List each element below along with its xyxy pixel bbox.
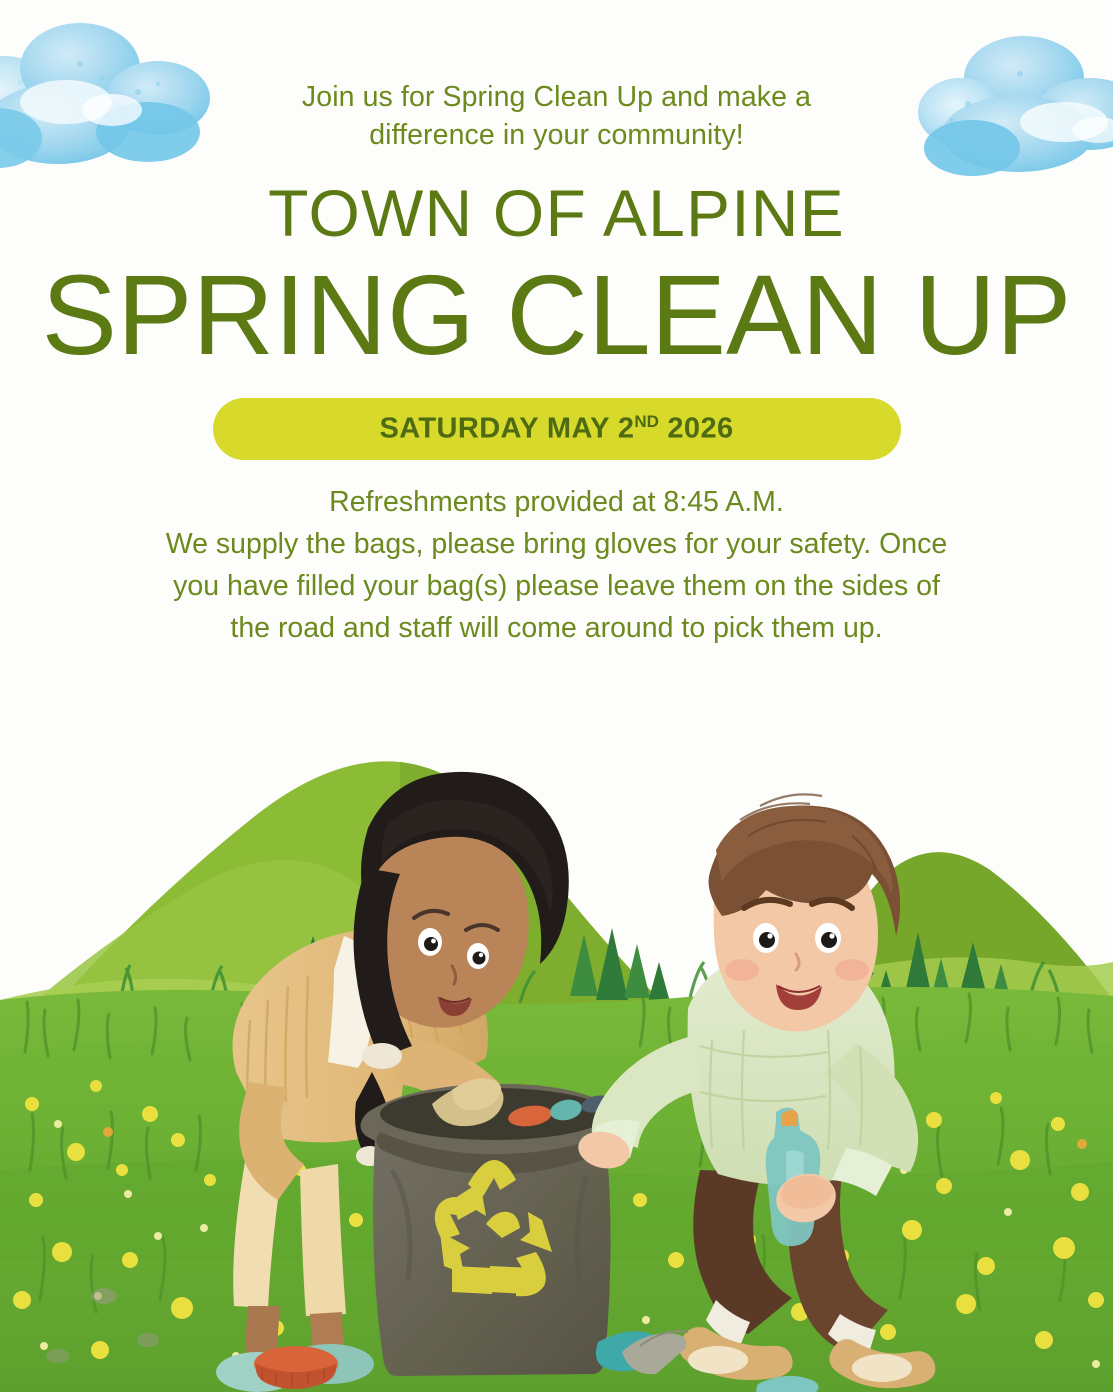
date-ordinal: ND [634, 412, 659, 431]
town-title: TOWN OF ALPINE [0, 154, 1113, 250]
tagline: Join us for Spring Clean Up and make a d… [0, 0, 1113, 154]
details-line-4: the road and staff will come around to p… [0, 607, 1113, 649]
date-banner-text: SATURDAY MAY 2ND 2026 [379, 412, 733, 446]
date-year: 2026 [667, 413, 733, 445]
poster-canvas: Join us for Spring Clean Up and make a d… [0, 0, 1113, 1392]
tagline-line-2: difference in your community! [369, 119, 744, 151]
date-prefix: SATURDAY MAY 2 [379, 413, 634, 445]
details-paragraph: Refreshments provided at 8:45 A.M. We su… [0, 460, 1113, 649]
date-banner: SATURDAY MAY 2ND 2026 [213, 398, 901, 460]
details-line-3: you have filled your bag(s) please leave… [0, 565, 1113, 607]
details-line-1: Refreshments provided at 8:45 A.M. [0, 481, 1113, 523]
illustration-scene [0, 700, 1113, 1392]
poster-text-block: Join us for Spring Clean Up and make a d… [0, 0, 1113, 649]
date-banner-row: SATURDAY MAY 2ND 2026 [0, 398, 1113, 460]
tagline-line-1: Join us for Spring Clean Up and make a [302, 81, 811, 113]
details-line-2: We supply the bags, please bring gloves … [0, 523, 1113, 565]
main-title: SPRING CLEAN UP [0, 250, 1113, 374]
recycling-bag [360, 1078, 619, 1376]
